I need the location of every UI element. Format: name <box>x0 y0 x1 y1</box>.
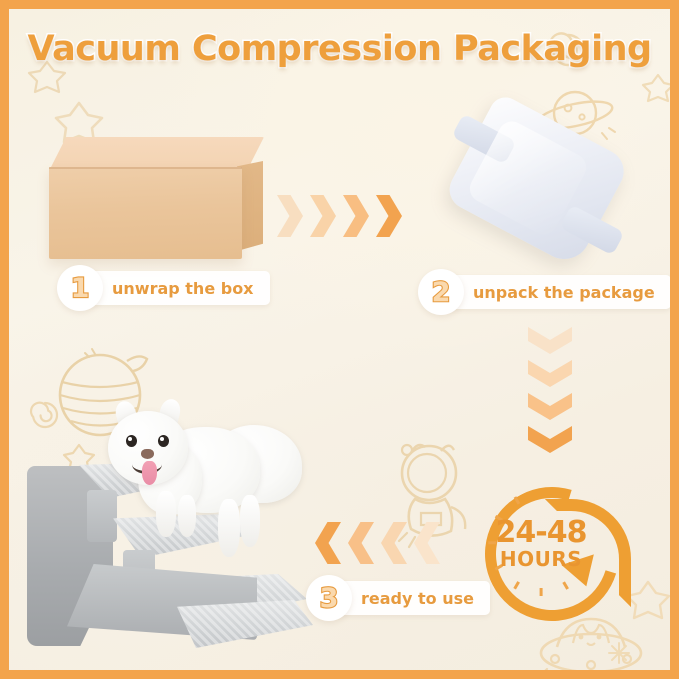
page-title: Vacuum Compression Packaging <box>9 29 670 69</box>
vacuum-package-image <box>452 112 627 262</box>
step-label: unwrap the box <box>80 271 270 305</box>
step-label: ready to use <box>329 581 490 615</box>
chevron-right-icon <box>343 195 369 237</box>
step-number-badge: 3 <box>306 575 352 621</box>
chevron-right-icon <box>310 195 336 237</box>
star-doodle <box>641 71 670 105</box>
chevron-left-icon <box>348 522 374 564</box>
dog-front-leg <box>156 491 176 537</box>
pomeranian-dog-image <box>94 399 304 579</box>
sparkle-doodle <box>605 639 633 667</box>
box-front-face <box>49 167 242 259</box>
chevron-left-icon <box>315 522 341 564</box>
chevron-right-icon <box>376 195 402 237</box>
dog-eye-right <box>158 435 169 447</box>
chevron-down-icon <box>528 393 572 420</box>
dog-tongue <box>142 461 157 485</box>
chevron-down-icon <box>528 426 572 453</box>
dog-eye-left <box>126 435 137 447</box>
chevron-left-icon <box>381 522 407 564</box>
step-item-1: 1 unwrap the box <box>57 271 270 305</box>
timer-unit: HOURS <box>479 547 603 571</box>
stairs-bottom-edge <box>177 600 313 648</box>
chevron-down-icon <box>528 327 572 354</box>
step-item-3: 3 ready to use <box>306 581 490 615</box>
timer-badge: 24-48 HOURS <box>479 481 629 631</box>
timer-duration: 24-48 <box>479 515 603 550</box>
infographic-canvas: Vacuum Compression Packaging <box>9 9 670 670</box>
dog-hind-leg <box>240 495 260 547</box>
step-label: unpack the package <box>441 275 670 309</box>
chevron-down-icon <box>528 360 572 387</box>
step-item-2: 2 unpack the package <box>418 275 670 309</box>
chevron-right-icon <box>277 195 303 237</box>
box-top-face <box>49 137 264 171</box>
box-seam <box>49 167 242 169</box>
chevron-left-icon <box>414 522 440 564</box>
clock-tick <box>540 588 543 596</box>
step-number-badge: 2 <box>418 269 464 315</box>
step-number: 2 <box>432 279 451 306</box>
cardboard-box-image <box>49 137 264 262</box>
star-doodle <box>625 577 670 623</box>
dog-hind-leg <box>218 499 240 557</box>
dog-front-leg <box>178 495 196 537</box>
spiral-doodle <box>27 397 63 433</box>
step-number-badge: 1 <box>57 265 103 311</box>
step-number: 3 <box>320 585 339 612</box>
step-number: 1 <box>71 275 90 302</box>
